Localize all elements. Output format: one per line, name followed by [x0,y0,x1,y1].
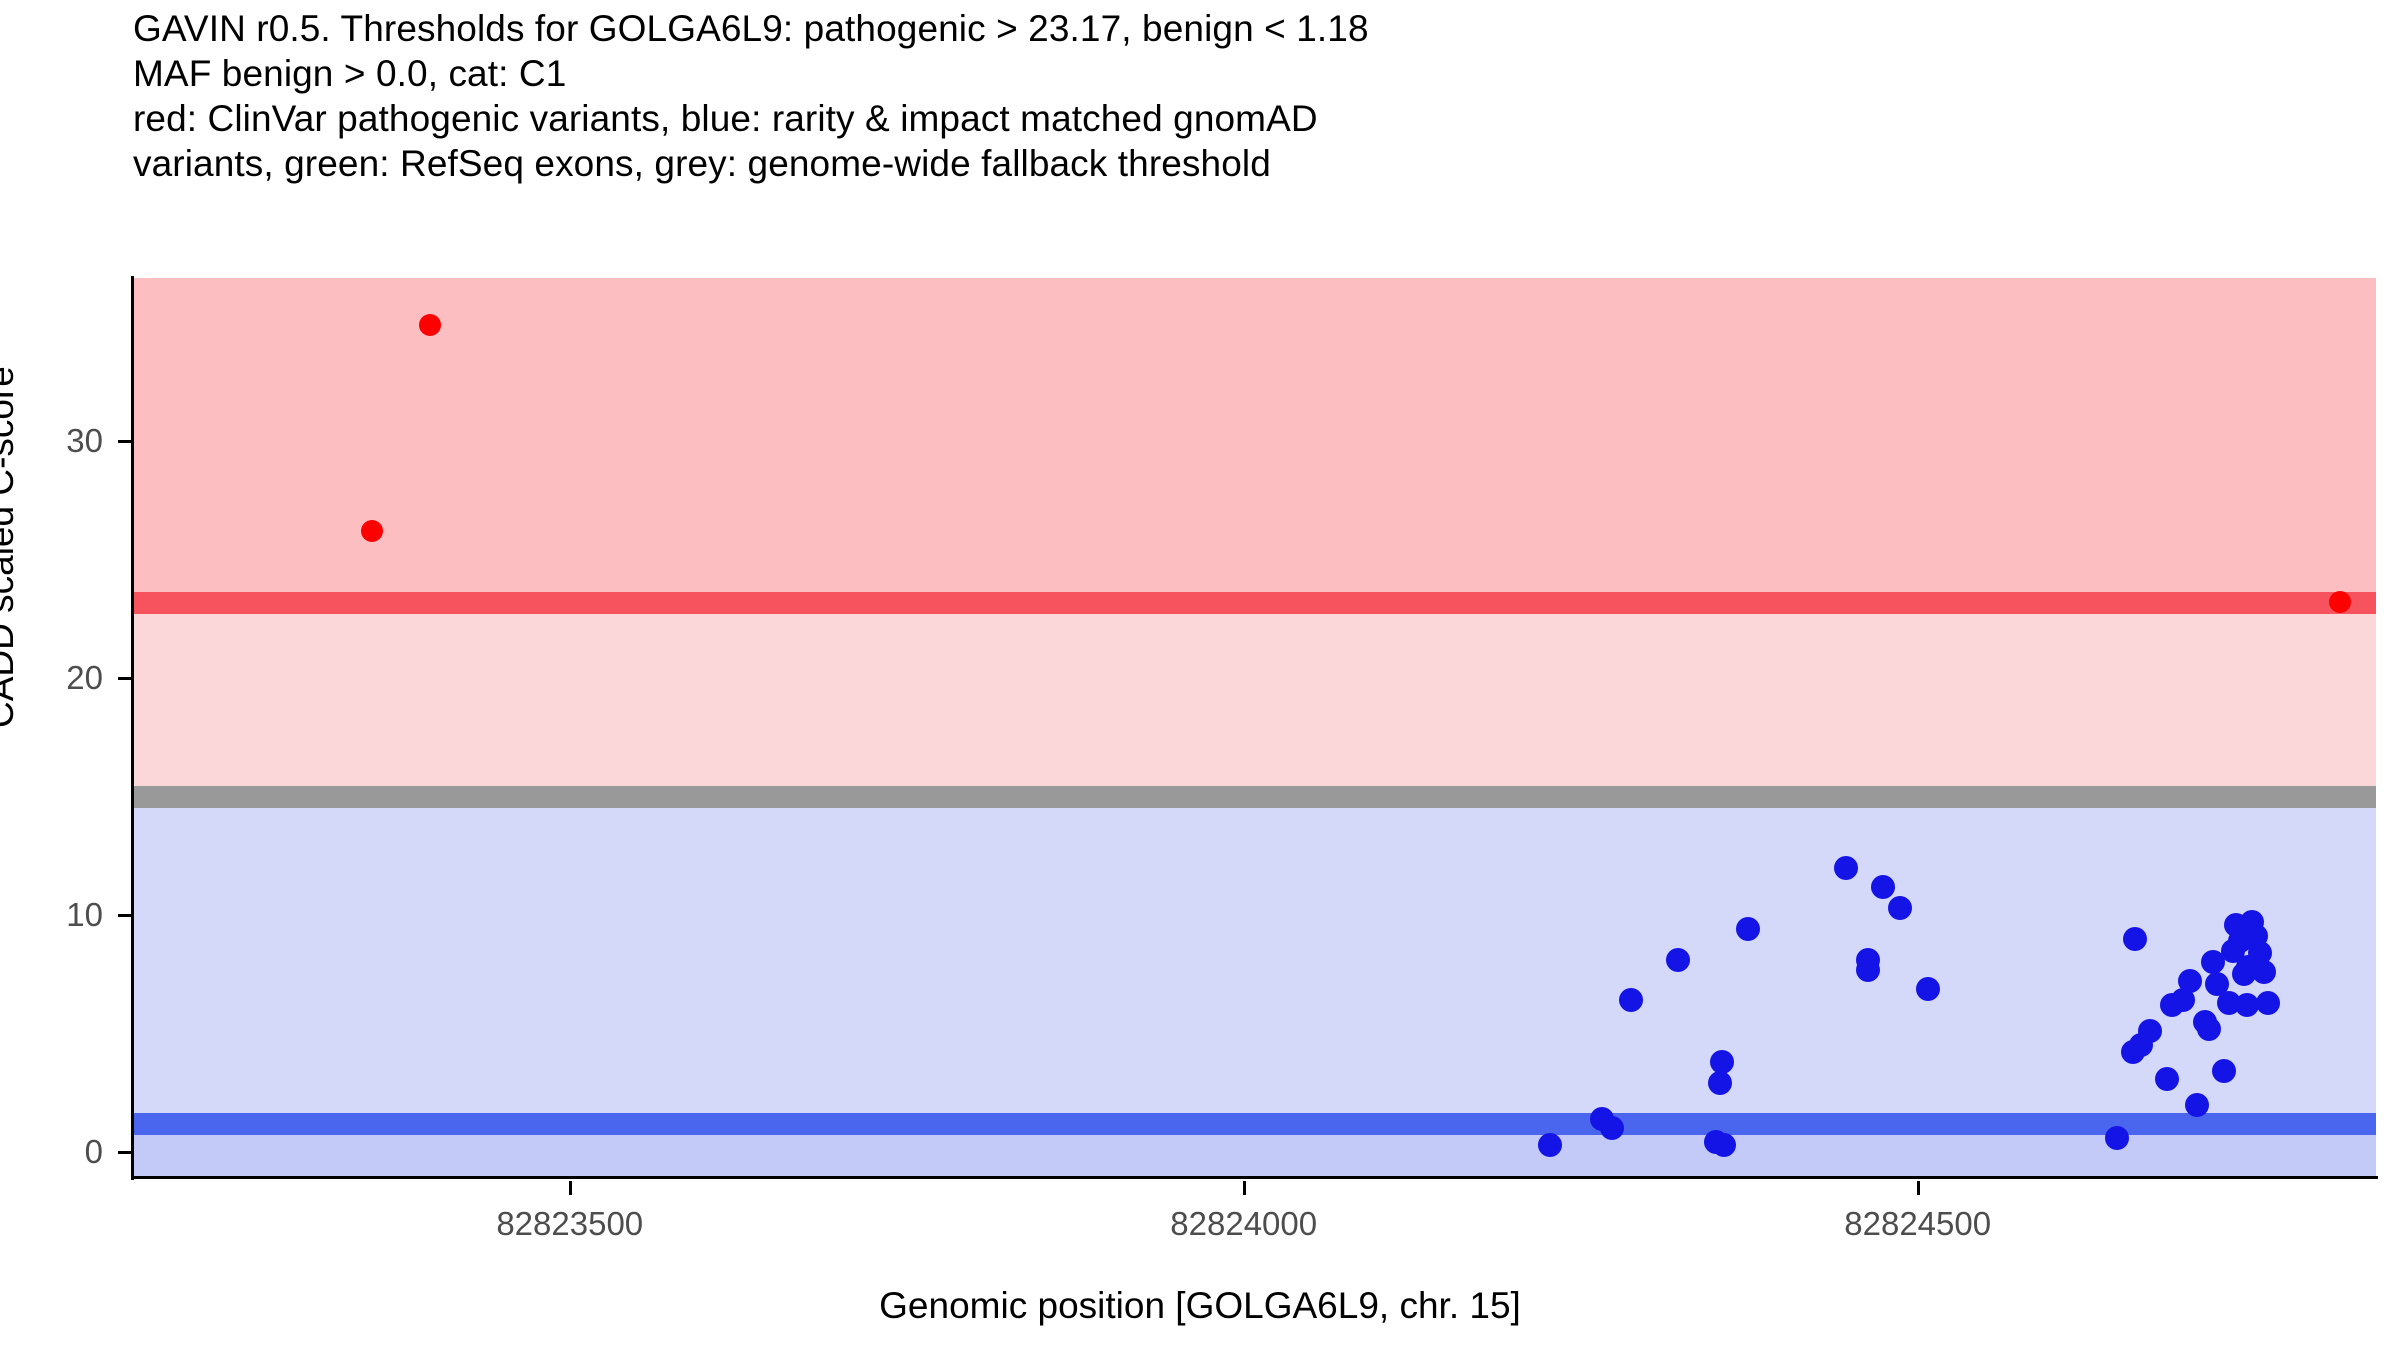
data-point [2155,1067,2179,1091]
data-point [419,314,441,336]
title-line-4: variants, green: RefSeq exons, grey: gen… [133,141,2383,186]
data-point [2197,1017,2221,1041]
data-point [1856,958,1880,982]
band-benign-range [133,797,2376,1124]
data-point [2185,1093,2209,1117]
data-point [1834,856,1858,880]
y-tick-mark [118,677,132,680]
y-tick-label: 10 [3,896,103,934]
data-point [2329,591,2351,613]
benign-threshold-line [133,1113,2376,1135]
x-tick-label: 82824000 [1170,1205,1317,1243]
y-tick-label: 0 [3,1133,103,1171]
genome-wide-fallback-threshold-line [133,786,2376,808]
data-point [2138,1019,2162,1043]
y-tick-mark [118,914,132,917]
x-tick-label: 82824500 [1844,1205,1991,1243]
data-point [1538,1133,1562,1157]
title-line-2: MAF benign > 0.0, cat: C1 [133,51,2383,96]
x-axis-line [131,1176,2378,1179]
band-uncertain [133,603,2376,797]
data-point [1888,896,1912,920]
data-point [2252,960,2276,984]
data-point [2212,1059,2236,1083]
data-point [1710,1050,1734,1074]
title-line-3: red: ClinVar pathogenic variants, blue: … [133,96,2383,141]
data-point [1708,1071,1732,1095]
y-tick-mark [118,440,132,443]
chart-title-block: GAVIN r0.5. Thresholds for GOLGA6L9: pat… [133,6,2383,186]
y-axis-line [131,276,134,1180]
data-point [2105,1126,2129,1150]
x-tick-label: 82823500 [496,1205,643,1243]
x-axis-title: Genomic position [GOLGA6L9, chr. 15] [0,1285,2400,1327]
scatter-plot-panel [133,278,2376,1178]
data-point [2235,993,2259,1017]
data-point [1712,1133,1736,1157]
data-point [1600,1116,1624,1140]
data-point [361,520,383,542]
x-tick-mark [569,1181,572,1195]
y-tick-mark [118,1151,132,1154]
band-pathogenic [133,278,2376,603]
title-line-1: GAVIN r0.5. Thresholds for GOLGA6L9: pat… [133,6,2383,51]
x-tick-mark [1243,1181,1246,1195]
x-tick-mark [1917,1181,1920,1195]
data-point [2256,991,2280,1015]
data-point [1871,875,1895,899]
pathogenic-threshold-line [133,592,2376,614]
y-axis-title: CADD scaled C-score [0,366,22,728]
data-point [1736,917,1760,941]
data-point [2123,927,2147,951]
data-point [1619,988,1643,1012]
data-point [1666,948,1690,972]
data-point [2178,969,2202,993]
data-point [1916,977,1940,1001]
